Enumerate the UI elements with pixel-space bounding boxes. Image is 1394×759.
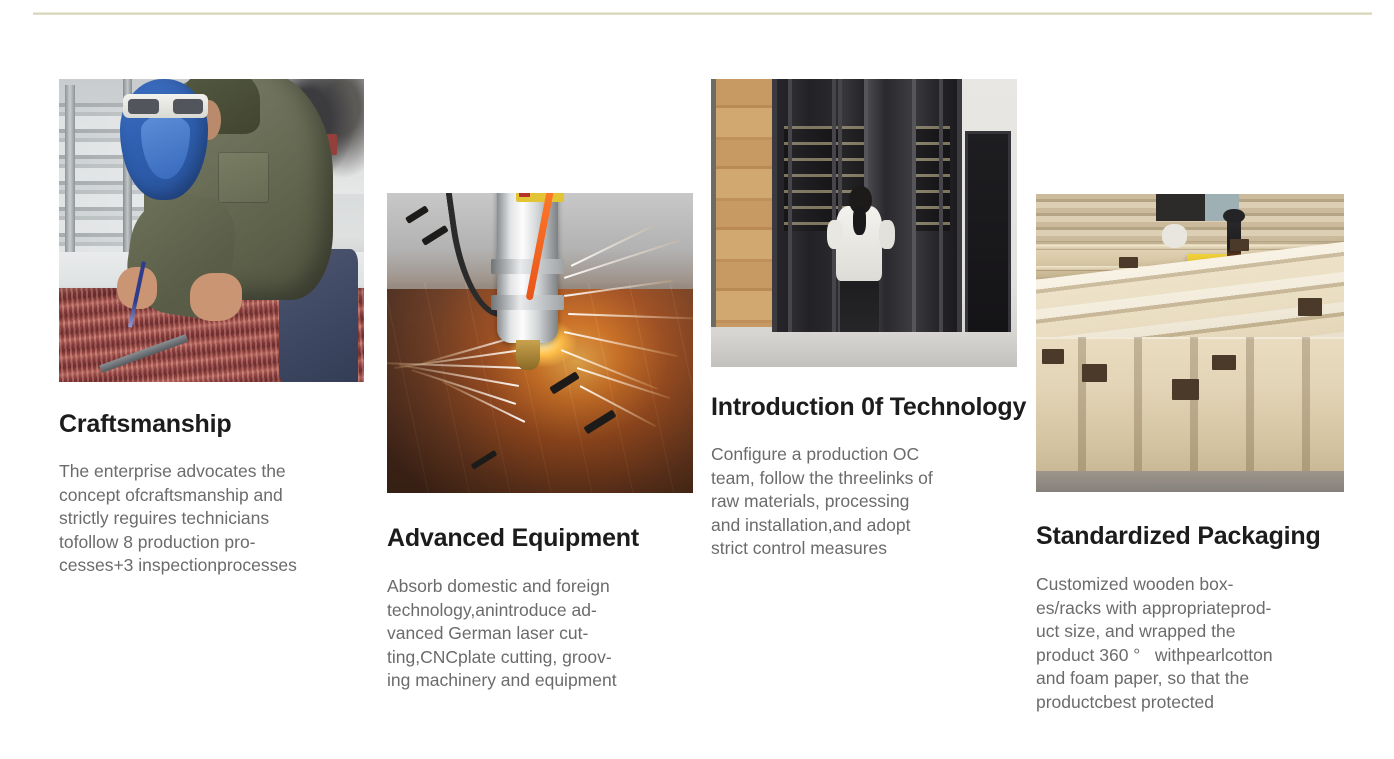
body-line: and installation,and adopt bbox=[711, 514, 1011, 538]
warehouse-floor bbox=[1036, 471, 1344, 492]
body-line: product 360 ° withpearlcotton bbox=[1036, 644, 1344, 668]
column-title-standardized-packaging: Standardized Packaging bbox=[1036, 522, 1344, 551]
column-body-advanced-equipment: Absorb domestic and foreign technology,a… bbox=[387, 575, 687, 693]
corner-bracket bbox=[1042, 349, 1064, 364]
body-line: productcbest protected bbox=[1036, 691, 1344, 715]
plastic-bag bbox=[1162, 224, 1187, 248]
body-line: and foam paper, so that the bbox=[1036, 667, 1344, 691]
safety-goggles bbox=[123, 94, 208, 118]
wooden-crates-packaging-photo bbox=[1036, 194, 1344, 492]
body-line: team, follow the threelinks of bbox=[711, 467, 1011, 491]
door-pane bbox=[788, 79, 836, 342]
visitor-ponytail bbox=[853, 206, 865, 235]
warning-label bbox=[516, 193, 565, 202]
body-line: concept ofcraftsmanship and bbox=[59, 484, 359, 508]
body-line: The enterprise advocates the bbox=[59, 460, 359, 484]
crate-front-panel bbox=[1036, 337, 1344, 492]
body-line: Absorb domestic and foreign bbox=[387, 575, 687, 599]
visitor-right-arm bbox=[879, 220, 894, 249]
body-line: uct size, and wrapped the bbox=[1036, 620, 1344, 644]
body-line: ing machinery and equipment bbox=[387, 669, 687, 693]
body-line: ting,CNCplate cutting, groov- bbox=[387, 646, 687, 670]
feature-column-craftsmanship: Craftsmanship The enterprise advocates t… bbox=[59, 79, 364, 578]
body-line: strictly reguires technicians bbox=[59, 507, 359, 531]
corner-bracket bbox=[1119, 257, 1137, 269]
header-divider-rule bbox=[33, 12, 1372, 15]
body-line: Configure a production OC bbox=[711, 443, 1011, 467]
corner-bracket bbox=[1212, 355, 1237, 370]
body-line: vanced German laser cut- bbox=[387, 622, 687, 646]
corner-bracket bbox=[1082, 364, 1107, 382]
plywood-panel-display bbox=[711, 79, 778, 327]
corner-bracket bbox=[1172, 379, 1200, 400]
feature-column-advanced-equipment: Advanced Equipment Absorb domestic and f… bbox=[387, 193, 693, 693]
body-line: es/racks with appropriateprod- bbox=[1036, 597, 1344, 621]
background-doorway bbox=[1156, 194, 1205, 221]
worker-marking-steel-bars-photo bbox=[59, 79, 364, 382]
corner-bracket bbox=[1230, 239, 1248, 251]
laser-cutting-sparks-photo bbox=[387, 193, 693, 493]
dark-door-right bbox=[965, 131, 1011, 338]
showroom-floor bbox=[711, 332, 1017, 367]
jacket-pocket bbox=[218, 152, 270, 204]
column-body-craftsmanship: The enterprise advocates the concept ofc… bbox=[59, 460, 359, 578]
visitor-left-arm bbox=[827, 220, 842, 249]
column-title-introduction-of-technology: Introduction 0f Technology bbox=[711, 393, 1017, 422]
column-body-standardized-packaging: Customized wooden box- es/racks with app… bbox=[1036, 573, 1344, 714]
worker-right-hand bbox=[190, 273, 242, 321]
body-line: cesses+3 inspectionprocesses bbox=[59, 554, 359, 578]
body-line: strict control measures bbox=[711, 537, 1011, 561]
head-collar-upper bbox=[491, 259, 564, 274]
corner-bracket bbox=[1298, 298, 1323, 316]
showroom-glass-doors-photo bbox=[711, 79, 1017, 367]
body-line: tofollow 8 production pro- bbox=[59, 531, 359, 555]
column-title-craftsmanship: Craftsmanship bbox=[59, 410, 364, 439]
body-line: raw materials, processing bbox=[711, 490, 1011, 514]
machine-post-left bbox=[65, 85, 75, 273]
feature-column-standardized-packaging: Standardized Packaging Customized wooden… bbox=[1036, 194, 1344, 714]
body-line: technology,anintroduce ad- bbox=[387, 599, 687, 623]
feature-column-introduction-of-technology: Introduction 0f Technology Configure a p… bbox=[711, 79, 1017, 561]
body-line: Customized wooden box- bbox=[1036, 573, 1344, 597]
column-body-introduction-of-technology: Configure a production OC team, follow t… bbox=[711, 443, 1011, 561]
column-title-advanced-equipment: Advanced Equipment bbox=[387, 524, 693, 553]
